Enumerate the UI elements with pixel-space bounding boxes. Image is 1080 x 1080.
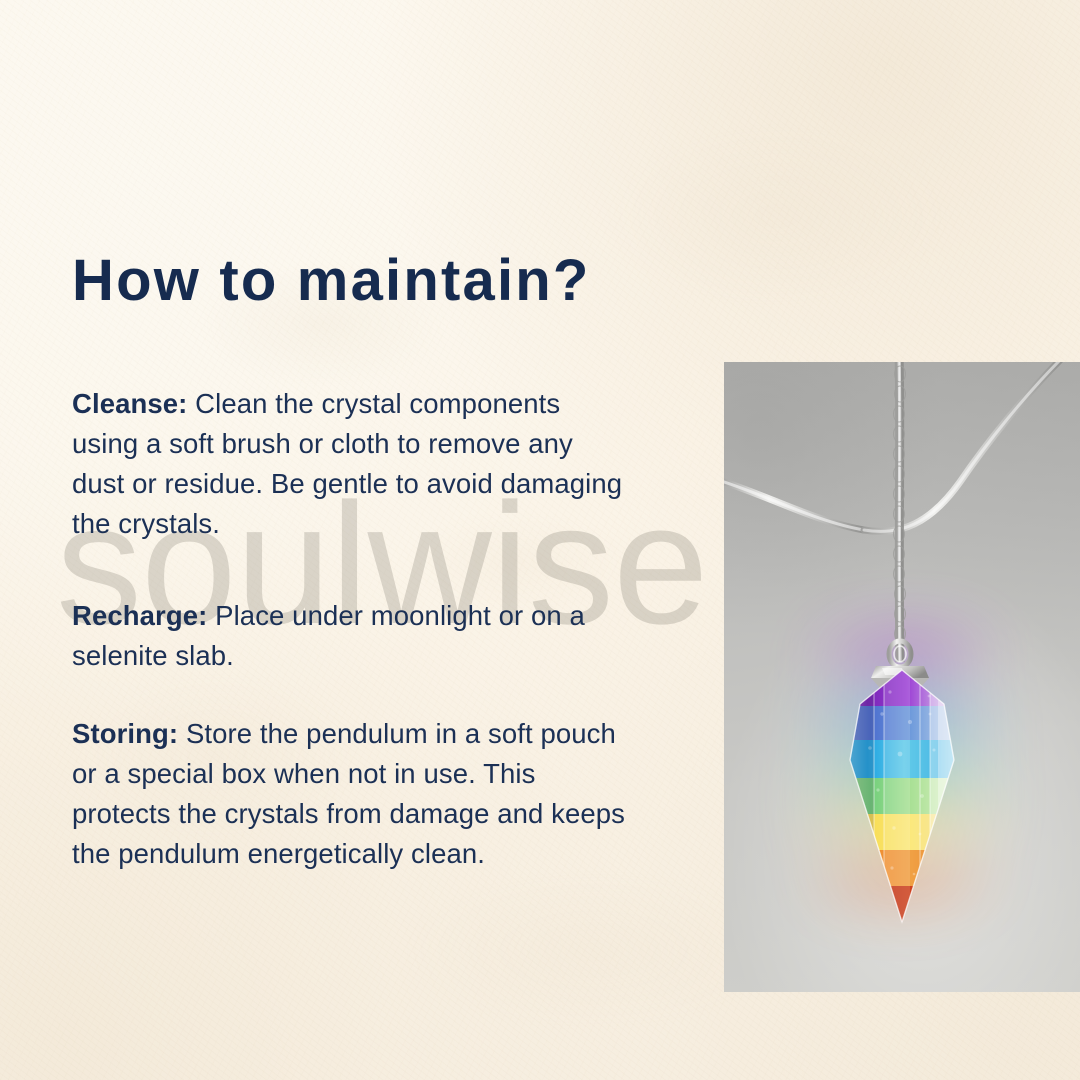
paragraph-recharge-label: Recharge: [72,600,207,631]
paragraph-storing: Storing: Store the pendulum in a soft po… [72,714,632,874]
pendulum-illustration [724,362,1080,992]
body-copy: Cleanse: Clean the crystal components us… [72,384,632,874]
paragraph-cleanse-label: Cleanse: [72,388,187,419]
pendulum-photo [724,362,1080,992]
paragraph-recharge: Recharge: Place under moonlight or on a … [72,596,632,676]
paragraph-cleanse: Cleanse: Clean the crystal components us… [72,384,632,544]
chakra-crystal [834,662,974,942]
paragraph-storing-label: Storing: [72,718,178,749]
page-title: How to maintain? [72,249,591,313]
social-post-slide: soulwise How to maintain? Cleanse: Clean… [0,0,1080,1080]
